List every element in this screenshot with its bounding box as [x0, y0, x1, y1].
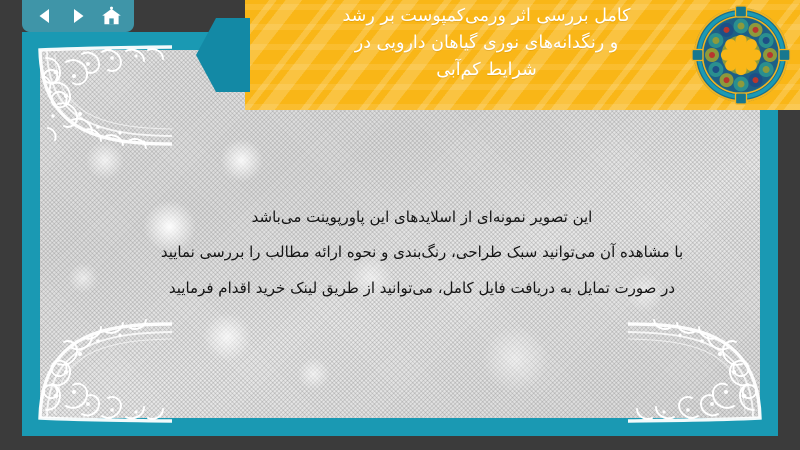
- home-icon: [101, 6, 122, 26]
- banner-ribbon-tail: [196, 18, 250, 92]
- slide-body-text: این تصویر نمونه‌ای از اسلایدهای این پاور…: [62, 200, 778, 306]
- back-triangle-icon: [36, 7, 54, 25]
- navigation-bar: [22, 0, 134, 32]
- slide-viewer: این تصویر نمونه‌ای از اسلایدهای این پاور…: [0, 0, 800, 450]
- home-button[interactable]: [99, 4, 123, 28]
- body-line-2: با مشاهده آن می‌توانید سبک طراحی، رنگ‌بن…: [62, 235, 778, 270]
- forward-button[interactable]: [66, 4, 90, 28]
- title-line-1: کامل بررسی اثر ورمی‌کمپوست بر رشد: [263, 3, 710, 30]
- persian-medallion-ornament: [690, 4, 792, 106]
- title-line-2: و رنگدانه‌های نوری گیاهان دارویی در: [263, 30, 710, 57]
- body-line-1: این تصویر نمونه‌ای از اسلایدهای این پاور…: [62, 200, 778, 235]
- title-line-3: شرایط کم‌آبی: [263, 57, 710, 84]
- body-line-3: در صورت تمایل به دریافت فایل کامل، می‌تو…: [62, 271, 778, 306]
- forward-triangle-icon: [69, 7, 87, 25]
- back-button[interactable]: [33, 4, 57, 28]
